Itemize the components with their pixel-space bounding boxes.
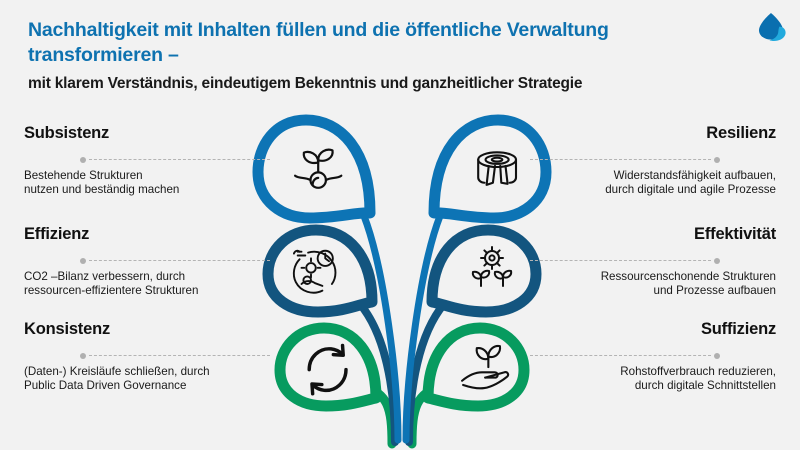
connector-dash: [530, 159, 711, 160]
connector-resilienz: [530, 155, 720, 164]
item-label-effektivitaet: Effektivität: [508, 225, 776, 244]
connector-effektivitaet: [530, 256, 720, 265]
page-subtitle: mit klarem Verständnis, eindeutigem Beke…: [28, 74, 728, 94]
leaf-konsistenz: [280, 328, 376, 406]
item-label-konsistenz: Konsistenz: [24, 320, 292, 339]
header: Nachhaltigkeit mit Inhalten füllen und d…: [28, 18, 728, 94]
item-description-effektivitaet: Ressourcenschonende Strukturen und Proze…: [508, 270, 776, 297]
connector-dot: [714, 157, 720, 163]
item-description-resilienz: Widerstandsfähigkeit aufbauen, durch dig…: [508, 169, 776, 196]
item-label-resilienz: Resilienz: [508, 124, 776, 143]
connector-dash: [530, 355, 711, 356]
connector-konsistenz: [80, 351, 270, 360]
slide-canvas: Nachhaltigkeit mit Inhalten füllen und d…: [0, 0, 800, 450]
droplet-leaf-logo: [754, 10, 788, 44]
item-label-suffizienz: Suffizienz: [508, 320, 776, 339]
item-description-effizienz: CO2 –Bilanz verbessern, durch ressourcen…: [24, 270, 292, 297]
connector-dash: [530, 260, 711, 261]
connector-dash: [89, 260, 270, 261]
connector-dot: [714, 353, 720, 359]
connector-dot: [80, 157, 86, 163]
connector-suffizienz: [530, 351, 720, 360]
sustainability-tree-graphic: [252, 108, 552, 450]
item-label-effizienz: Effizienz: [24, 225, 292, 244]
connector-dot: [80, 258, 86, 264]
item-label-subsistenz: Subsistenz: [24, 124, 292, 143]
item-description-suffizienz: Rohstoffverbrauch reduzieren, durch digi…: [508, 365, 776, 392]
page-title: Nachhaltigkeit mit Inhalten füllen und d…: [28, 18, 728, 68]
connector-dot: [80, 353, 86, 359]
connector-dash: [89, 159, 270, 160]
connector-subsistenz: [80, 155, 270, 164]
connector-dot: [714, 258, 720, 264]
item-description-subsistenz: Bestehende Strukturen nutzen und beständ…: [24, 169, 292, 196]
tree-stems: [360, 216, 444, 444]
connector-dash: [89, 355, 270, 356]
item-description-konsistenz: (Daten-) Kreisläufe schließen, durch Pub…: [24, 365, 292, 392]
connector-effizienz: [80, 256, 270, 265]
